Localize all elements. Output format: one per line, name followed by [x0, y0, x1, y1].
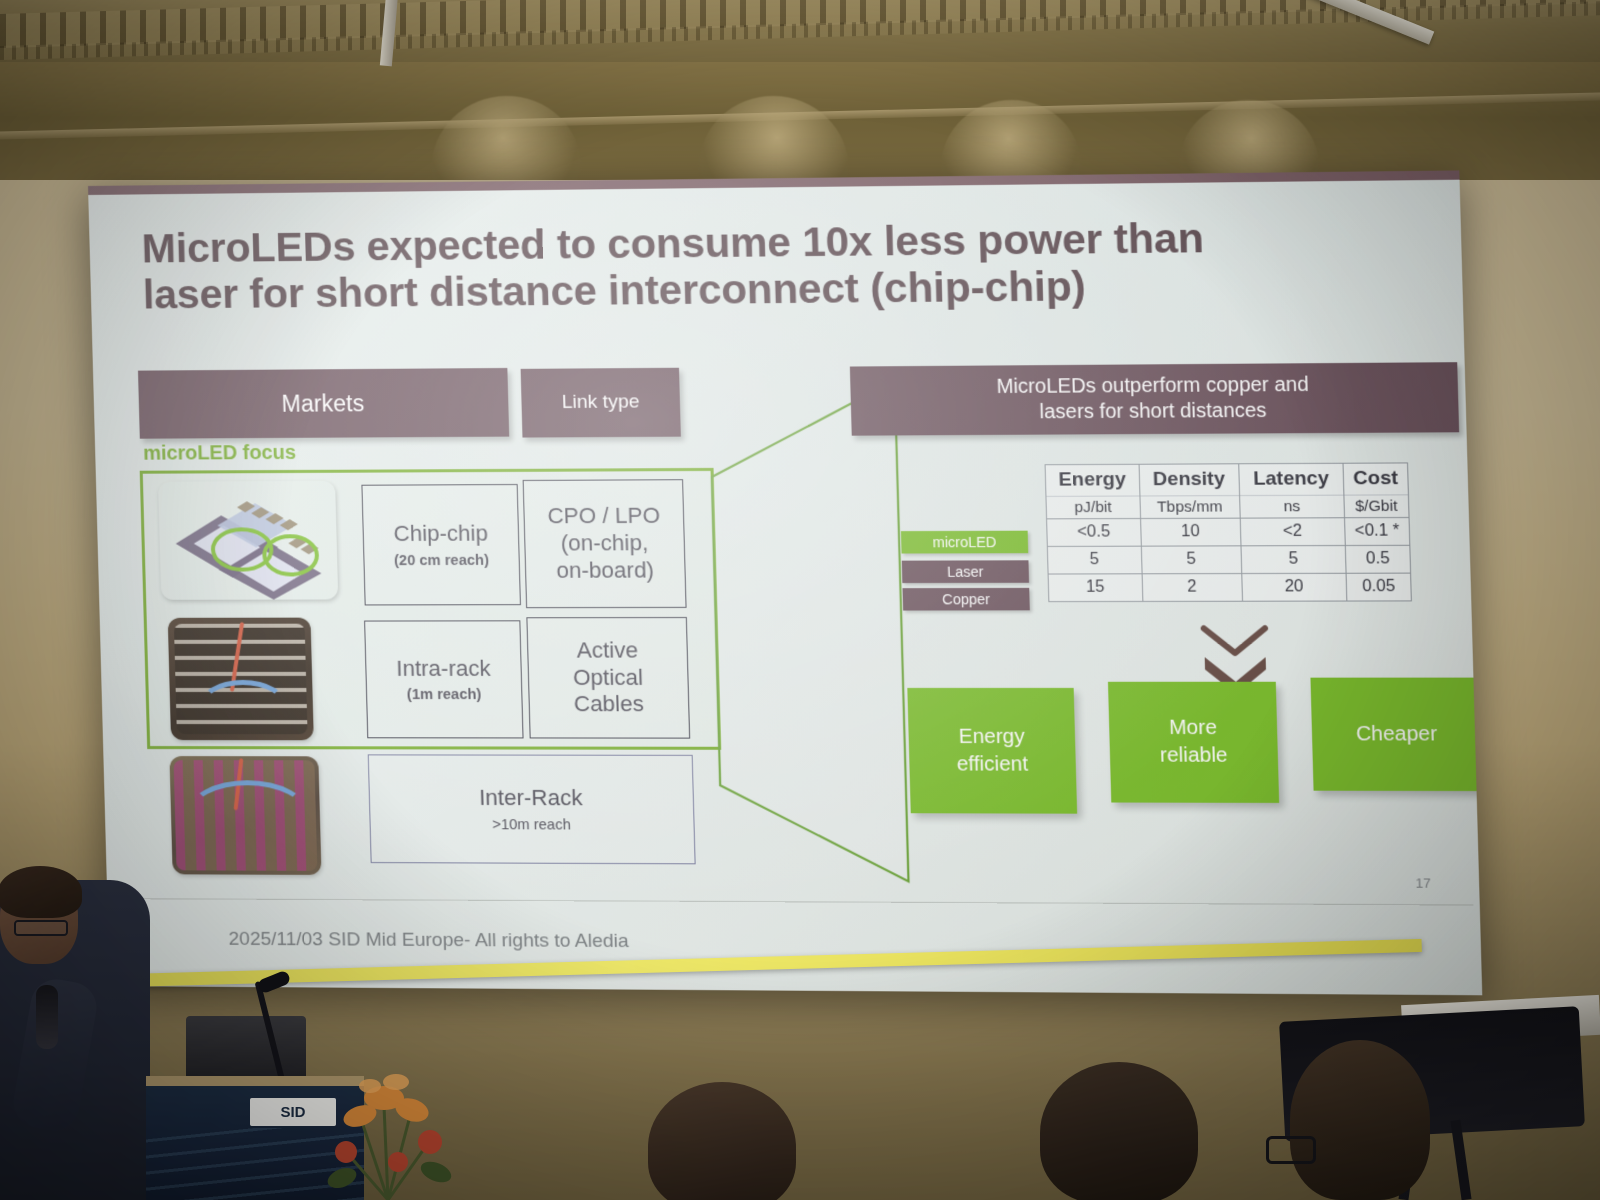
legend-copper: Copper [903, 588, 1030, 611]
market-label: Chip-chip [393, 521, 488, 548]
table-row: 15 2 20 0.05 [1048, 573, 1411, 602]
market-cell-chip-chip: Chip-chip (20 cm reach) [361, 484, 521, 605]
cell-laser-cost: 0.5 [1345, 545, 1410, 573]
col-header-density: Density [1139, 464, 1240, 496]
cell-copper-density: 2 [1142, 574, 1243, 602]
right-header-line-2: lasers for short distances [1039, 398, 1267, 425]
cell-copper-latency: 20 [1241, 573, 1346, 601]
outcome-box-energy-efficient: Energy efficient [907, 688, 1077, 814]
cell-laser-density: 5 [1141, 546, 1242, 574]
markets-header-band: Markets [138, 368, 509, 439]
unit-density: Tbps/mm [1140, 496, 1240, 519]
microled-focus-label: microLED focus [143, 442, 296, 466]
outcome-line-1: More [1169, 715, 1218, 743]
legend-label: microLED [932, 534, 996, 551]
market-label: Inter-Rack [479, 785, 583, 812]
cell-laser-latency: 5 [1241, 546, 1346, 574]
link-type-header-label: Link type [561, 391, 639, 414]
server-rack-thumbnail [168, 618, 314, 741]
legend-label: Copper [942, 591, 990, 607]
link-type-header-band: Link type [521, 368, 681, 438]
market-cell-inter-rack: Inter-Rack >10m reach [368, 754, 696, 864]
table-header-row: Energy Density Latency Cost [1045, 463, 1408, 496]
cell-microled-latency: <2 [1240, 518, 1345, 546]
legend-laser: Laser [902, 560, 1029, 583]
double-chevron-down-icon [1195, 622, 1275, 690]
chip-package-thumbnail [158, 481, 338, 600]
link-line-3: on-board) [556, 557, 654, 584]
col-header-energy: Energy [1045, 464, 1139, 496]
col-header-cost: Cost [1343, 463, 1408, 495]
outcome-line-1: Energy [958, 723, 1025, 751]
market-reach: >10m reach [492, 817, 571, 833]
link-line-2: Optical [573, 664, 644, 691]
market-reach: (1m reach) [407, 687, 482, 703]
page-number: 17 [1415, 875, 1431, 891]
comparison-table: Energy Density Latency Cost pJ/bit Tbps/… [1045, 462, 1412, 602]
market-cell-intra-rack: Intra-rack (1m reach) [364, 620, 523, 738]
outcome-box-cheaper: Cheaper [1310, 678, 1482, 791]
conference-room-scene: MicroLEDs expected to consume 10x less p… [0, 0, 1600, 1200]
link-cell-active-optical-cables: Active Optical Cables [526, 617, 690, 739]
legend-microled: microLED [901, 531, 1028, 554]
market-label: Intra-rack [396, 655, 491, 682]
legend-label: Laser [947, 563, 984, 579]
link-line-2: (on-chip, [560, 530, 648, 557]
markets-header-label: Markets [281, 390, 364, 418]
outcome-line-2: efficient [956, 751, 1028, 779]
cell-microled-cost: <0.1 * [1344, 518, 1409, 546]
cell-microled-energy: <0.5 [1047, 519, 1141, 547]
funnel-connector [701, 376, 917, 885]
right-panel-header-band: MicroLEDs outperform copper and lasers f… [850, 362, 1459, 436]
table-row: <0.5 10 <2 <0.1 * [1047, 518, 1410, 547]
unit-cost: $/Gbit [1344, 495, 1409, 518]
cell-laser-energy: 5 [1047, 546, 1141, 574]
datacenter-aisle-thumbnail [169, 756, 321, 875]
slide-footer: 2025/11/03 SID Mid Europe- All rights to… [228, 929, 629, 953]
page-title: MicroLEDs expected to consume 10x less p… [141, 213, 1315, 318]
table-units-row: pJ/bit Tbps/mm ns $/Gbit [1046, 495, 1409, 519]
footer-divider [117, 898, 1473, 905]
col-header-latency: Latency [1238, 463, 1343, 495]
link-line-1: Active [576, 637, 638, 664]
unit-latency: ns [1239, 495, 1344, 518]
table-row: 5 5 5 0.5 [1047, 545, 1410, 574]
projected-slide: MicroLEDs expected to consume 10x less p… [88, 170, 1482, 995]
link-line-3: Cables [574, 691, 645, 718]
outcome-box-more-reliable: More reliable [1108, 682, 1279, 803]
outcome-line-1: Cheaper [1356, 720, 1438, 748]
link-line-1: CPO / LPO [547, 503, 660, 531]
cell-copper-cost: 0.05 [1346, 573, 1411, 601]
cell-microled-density: 10 [1140, 518, 1241, 546]
right-header-line-1: MicroLEDs outperform copper and [996, 372, 1309, 400]
outcome-line-2: reliable [1160, 742, 1228, 770]
market-reach: (20 cm reach) [394, 553, 489, 569]
link-cell-cpo-lpo: CPO / LPO (on-chip, on-board) [523, 479, 687, 608]
cell-copper-energy: 15 [1048, 574, 1142, 602]
unit-energy: pJ/bit [1046, 496, 1140, 519]
